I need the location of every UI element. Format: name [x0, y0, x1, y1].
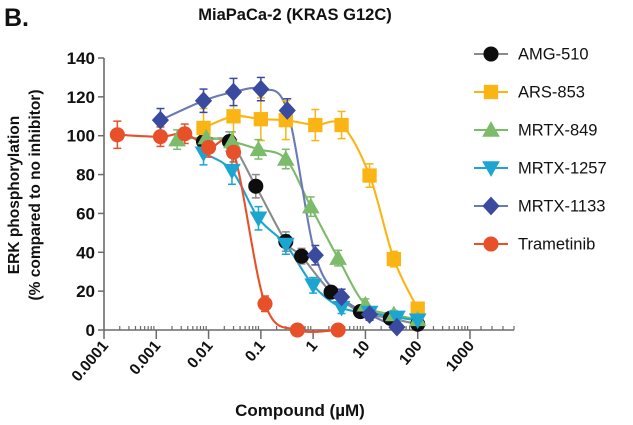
- y-tick-label-140: 140: [67, 49, 95, 68]
- legend-item-ars-853[interactable]: ARS-853: [474, 83, 585, 101]
- legend-item-mrtx-849[interactable]: MRTX-849: [474, 121, 597, 139]
- data-point: [152, 111, 169, 130]
- data-point: [294, 249, 309, 264]
- y-axis-title-line1: ERK phosphorylation: [6, 116, 23, 274]
- data-point: [226, 109, 240, 123]
- legend-item-mrtx-1133[interactable]: MRTX-1133: [474, 197, 605, 216]
- data-point: [290, 322, 305, 337]
- y-tick-label-0: 0: [86, 321, 95, 340]
- legend-label: MRTX-849: [518, 121, 597, 139]
- data-point: [307, 246, 324, 265]
- y-axis-title-line2: (% compared to no inhibitor): [27, 90, 44, 301]
- data-point: [257, 296, 272, 311]
- y-tick-label-20: 20: [76, 282, 95, 301]
- errorbars-trametinib: [113, 121, 269, 311]
- panel-label-group: B.: [4, 4, 29, 32]
- legend-item-mrtx-1257[interactable]: MRTX-1257: [474, 159, 607, 177]
- legend-marker-circle-icon: [483, 236, 498, 251]
- data-point: [277, 150, 295, 166]
- x-tick-label-0.001: 0.001: [126, 337, 164, 378]
- data-point: [110, 127, 125, 142]
- data-point: [254, 112, 268, 126]
- x-tick-label-0.01: 0.01: [184, 337, 217, 371]
- chart-figure: B. MiaPaCa-2 (KRAS G12C) ERK phosphoryla…: [0, 0, 633, 425]
- data-point: [248, 179, 263, 194]
- y-tick-label-40: 40: [76, 243, 95, 262]
- series-curve-trametinib: [117, 133, 338, 332]
- x-tick-label-100: 100: [396, 338, 426, 369]
- y-tick-label-120: 120: [67, 88, 95, 107]
- series-trametinib: [117, 133, 338, 332]
- data-point: [252, 80, 269, 99]
- legend-label: MRTX-1133: [518, 197, 605, 215]
- data-point: [226, 145, 241, 160]
- plot-area: 0204060801001201400.00010.0010.010.11101…: [67, 49, 514, 385]
- y-tick-label-80: 80: [76, 166, 95, 185]
- data-point: [362, 168, 376, 182]
- series-curve-mrtx-849: [177, 138, 418, 320]
- panel-label: B.: [4, 4, 29, 32]
- legend-marker-square-icon: [484, 85, 498, 99]
- data-point: [329, 249, 347, 265]
- y-axis-title: ERK phosphorylation (% compared to no in…: [6, 90, 44, 301]
- data-point: [387, 252, 401, 266]
- data-point: [153, 129, 168, 144]
- y-tick-label-60: 60: [76, 204, 95, 223]
- data-point: [195, 91, 212, 110]
- legend-label: ARS-853: [518, 83, 585, 101]
- legend-item-amg-510[interactable]: AMG-510: [474, 45, 589, 63]
- chart-title: MiaPaCa-2 (KRAS G12C): [198, 6, 391, 24]
- x-tick-label-1000: 1000: [443, 338, 478, 375]
- x-tick-label-0.1: 0.1: [242, 337, 269, 365]
- data-point: [334, 118, 348, 132]
- x-axis-title: Compound (µM): [235, 401, 365, 420]
- data-point: [201, 140, 216, 155]
- data-point: [225, 83, 242, 102]
- legend-label: AMG-510: [518, 45, 589, 63]
- y-tick-label-100: 100: [67, 127, 95, 146]
- legend-item-trametinib[interactable]: Trametinib: [474, 235, 595, 253]
- x-tick-label-10: 10: [349, 338, 373, 362]
- legend-label: Trametinib: [518, 235, 595, 253]
- data-point: [308, 118, 322, 132]
- chart-legend: AMG-510ARS-853MRTX-849MRTX-1257MRTX-1133…: [474, 45, 607, 253]
- legend-marker-diamond-icon: [482, 197, 499, 216]
- legend-label: MRTX-1257: [518, 159, 607, 177]
- legend-marker-circle-icon: [483, 46, 498, 61]
- data-point: [331, 322, 346, 337]
- x-tick-label-0.0001: 0.0001: [69, 337, 113, 385]
- data-point: [177, 126, 192, 141]
- series-mrtx-849: [177, 138, 418, 320]
- x-tick-label-1: 1: [303, 337, 322, 355]
